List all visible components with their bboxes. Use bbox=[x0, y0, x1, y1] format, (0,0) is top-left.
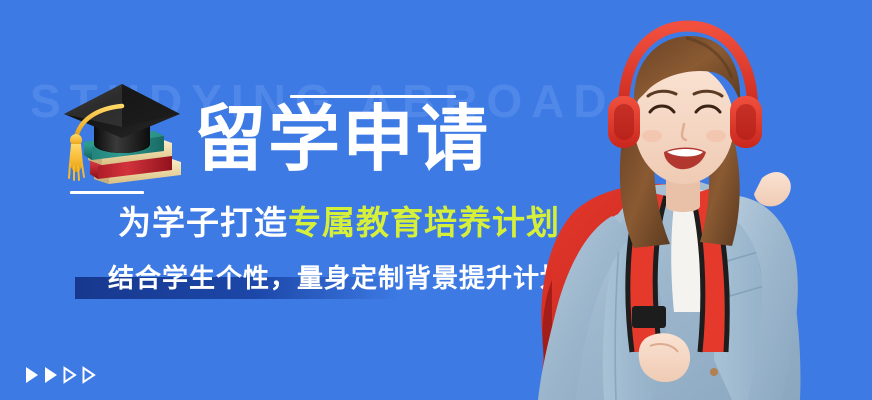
study-abroad-banner: STUDYING ABROAD bbox=[0, 0, 872, 400]
arrow-indicators bbox=[24, 366, 97, 384]
subtitle-plain-text: 为学子打造 bbox=[118, 204, 288, 241]
arrow-outline-2-icon bbox=[81, 366, 97, 384]
page-title: 留学申请 bbox=[194, 104, 490, 176]
arrow-filled-1-icon bbox=[24, 366, 40, 384]
tagline-text: 结合学生个性，量身定制背景提升计划 bbox=[108, 258, 567, 298]
subtitle: 为学子打造专属教育培养计划 bbox=[118, 203, 560, 243]
icon-underline bbox=[70, 191, 144, 194]
tagline-block: 结合学生个性，量身定制背景提升计划 bbox=[75, 258, 505, 302]
graduation-cap-books-icon bbox=[38, 76, 188, 196]
student-with-headphones-photo bbox=[500, 0, 872, 400]
arrow-outline-1-icon bbox=[62, 366, 78, 384]
arrow-filled-2-icon bbox=[43, 366, 59, 384]
title-rule bbox=[290, 95, 456, 98]
